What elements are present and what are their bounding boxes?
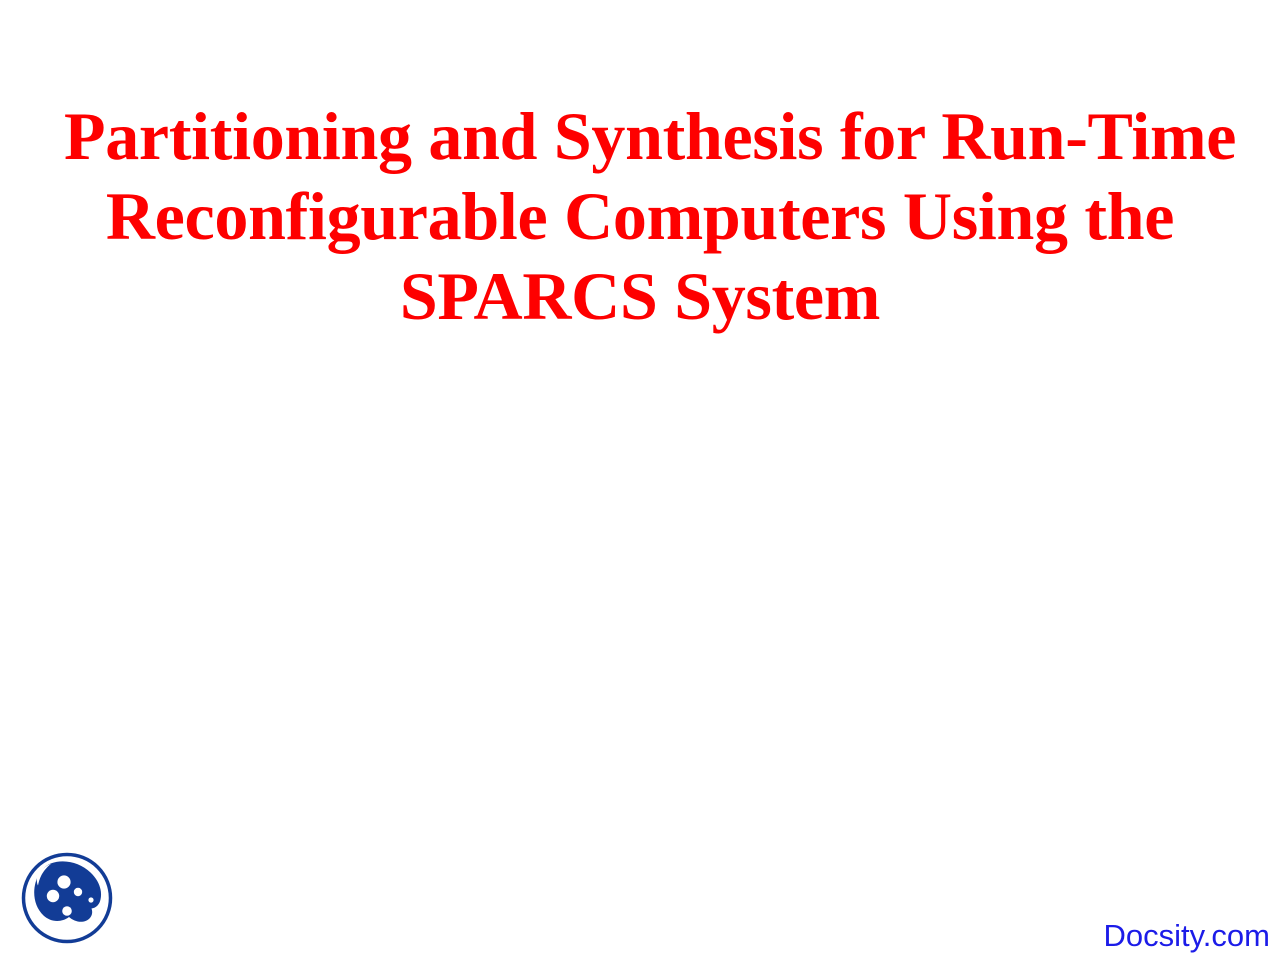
docsity-logo-icon	[20, 851, 114, 945]
page-title: Partitioning and Synthesis for Run-Time …	[64, 96, 1216, 336]
slide-canvas: Partitioning and Synthesis for Run-Time …	[0, 0, 1280, 960]
title-line-2: Reconfigurable Computers Using the	[64, 176, 1216, 256]
title-line-1: Partitioning and Synthesis for Run-Time	[64, 96, 1216, 176]
docsity-watermark: Docsity.com	[1103, 918, 1270, 954]
title-line-3: SPARCS System	[64, 256, 1216, 336]
